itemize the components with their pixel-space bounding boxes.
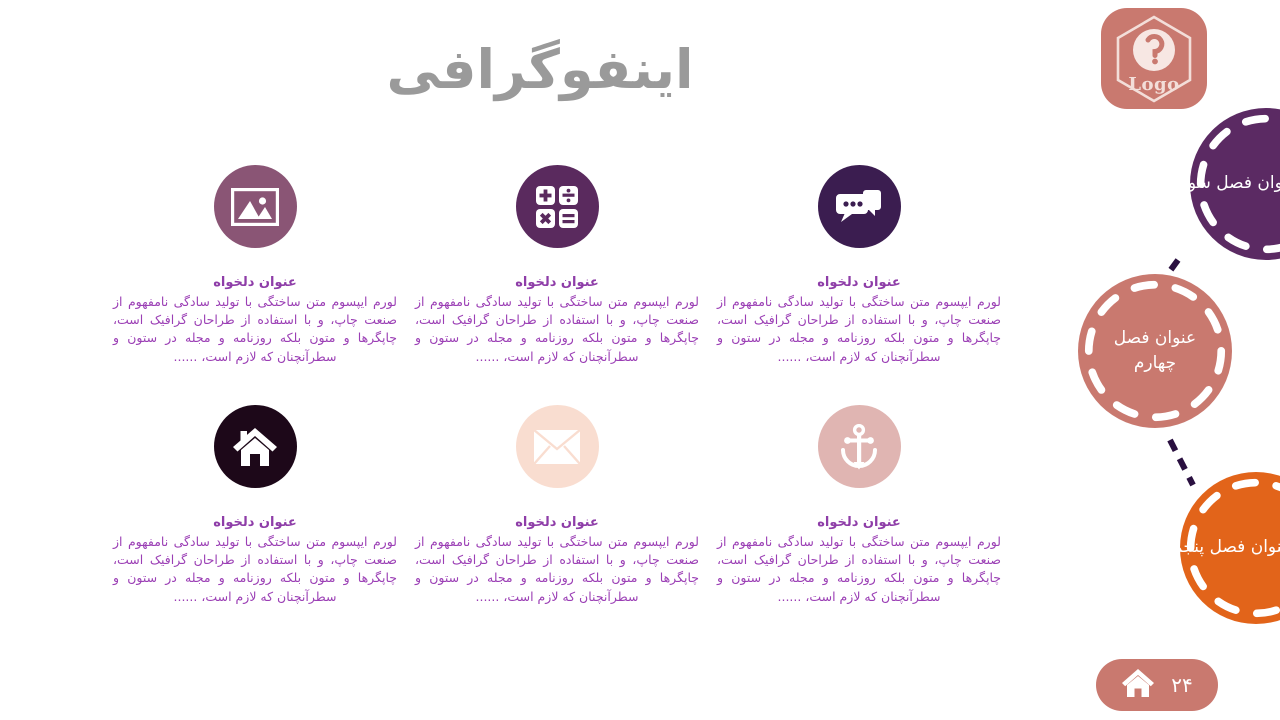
chapter-bubble-5-label: عنوان فصل پنجم — [1158, 535, 1280, 561]
infographic-grid: عنوان دلخواه لورم ایپسوم متن ساختگی با ت… — [105, 165, 1005, 645]
info-item-heading: عنوان دلخواه — [411, 514, 703, 532]
chapter-bubble-4-label: عنوان فصل چهارم — [1078, 326, 1232, 377]
envelope-icon — [534, 430, 580, 464]
page-title: اینفوگرافی — [0, 38, 1080, 103]
image-icon — [231, 188, 279, 226]
info-item-body: لورم ایپسوم متن ساختگی با تولید سادگی نا… — [713, 533, 1005, 606]
info-item: عنوان دلخواه لورم ایپسوم متن ساختگی با ت… — [109, 165, 401, 405]
info-item: عنوان دلخواه لورم ایپسوم متن ساختگی با ت… — [713, 165, 1005, 405]
page-number: ۲۴ — [1171, 673, 1192, 697]
icon-circle-image[interactable] — [214, 165, 297, 248]
info-item: عنوان دلخواه لورم ایپسوم متن ساختگی با ت… — [411, 405, 703, 645]
home-icon[interactable] — [1121, 668, 1155, 702]
icon-circle-envelope[interactable] — [516, 405, 599, 488]
icon-circle-chat[interactable] — [818, 165, 901, 248]
info-item-body: لورم ایپسوم متن ساختگی با تولید سادگی نا… — [109, 533, 401, 606]
info-item-text: عنوان دلخواه لورم ایپسوم متن ساختگی با ت… — [411, 274, 703, 366]
page-navigation-pill[interactable]: ۲۴ — [1096, 659, 1218, 711]
info-item-text: عنوان دلخواه لورم ایپسوم متن ساختگی با ت… — [713, 274, 1005, 366]
icon-circle-anchor[interactable] — [818, 405, 901, 488]
anchor-icon — [837, 424, 881, 470]
calculator-icon — [535, 185, 579, 229]
logo-badge[interactable]: Logo — [1101, 8, 1207, 109]
info-item-body: لورم ایپسوم متن ساختگی با تولید سادگی نا… — [411, 533, 703, 606]
info-item: عنوان دلخواه لورم ایپسوم متن ساختگی با ت… — [713, 405, 1005, 645]
info-item-text: عنوان دلخواه لورم ایپسوم متن ساختگی با ت… — [713, 514, 1005, 606]
info-item-text: عنوان دلخواه لورم ایپسوم متن ساختگی با ت… — [411, 514, 703, 606]
icon-circle-calculator[interactable] — [516, 165, 599, 248]
chapter-bubble-4[interactable]: عنوان فصل چهارم — [1078, 274, 1232, 428]
info-item-heading: عنوان دلخواه — [713, 274, 1005, 292]
logo-mark: Logo — [1108, 13, 1200, 105]
info-item-heading: عنوان دلخواه — [109, 274, 401, 292]
info-item: عنوان دلخواه لورم ایپسوم متن ساختگی با ت… — [109, 405, 401, 645]
info-item-heading: عنوان دلخواه — [109, 514, 401, 532]
info-item-body: لورم ایپسوم متن ساختگی با تولید سادگی نا… — [713, 293, 1005, 366]
chat-bubbles-icon — [836, 186, 882, 228]
info-item-text: عنوان دلخواه لورم ایپسوم متن ساختگی با ت… — [109, 274, 401, 366]
info-item-heading: عنوان دلخواه — [713, 514, 1005, 532]
info-item-body: لورم ایپسوم متن ساختگی با تولید سادگی نا… — [411, 293, 703, 366]
info-item: عنوان دلخواه لورم ایپسوم متن ساختگی با ت… — [411, 165, 703, 405]
info-item-heading: عنوان دلخواه — [411, 274, 703, 292]
chapter-bubble-3-label: عنوان فصل سوم — [1163, 171, 1280, 197]
info-item-body: لورم ایپسوم متن ساختگی با تولید سادگی نا… — [109, 293, 401, 366]
info-item-text: عنوان دلخواه لورم ایپسوم متن ساختگی با ت… — [109, 514, 401, 606]
icon-circle-home[interactable] — [214, 405, 297, 488]
home-icon — [232, 426, 278, 468]
logo-text: Logo — [1108, 74, 1200, 95]
